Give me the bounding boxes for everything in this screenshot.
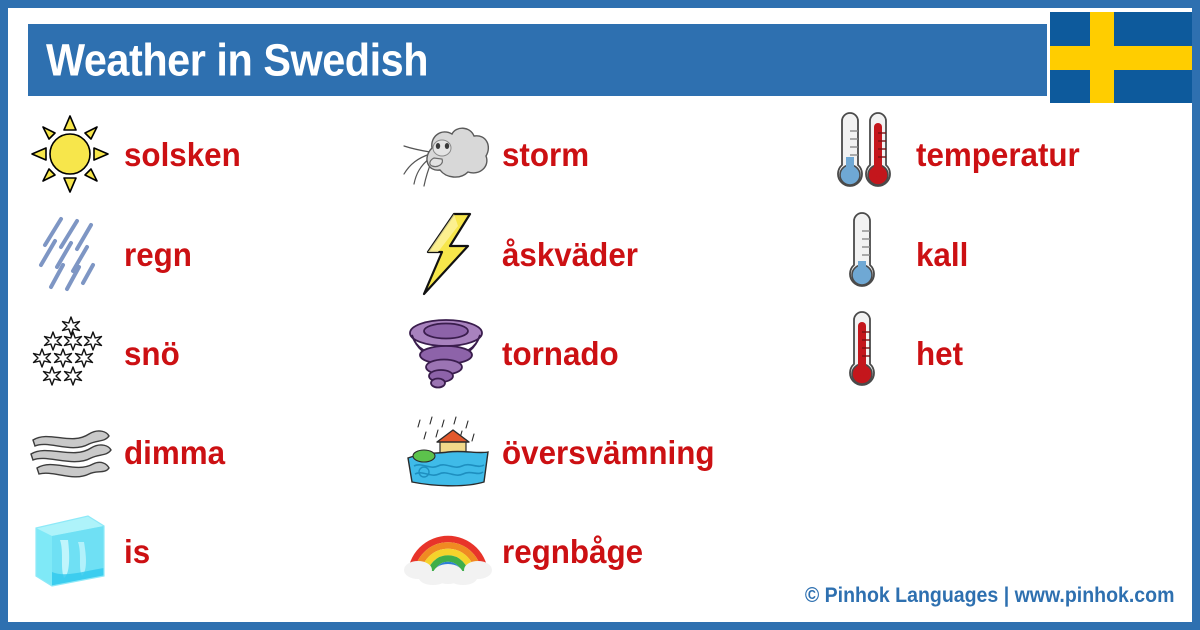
ice-cube-icon: [22, 508, 118, 594]
vocabulary-word: snö: [124, 337, 183, 370]
sun-icon: [22, 111, 118, 197]
vocabulary-word: het: [916, 337, 966, 370]
snowflakes-icon: [22, 310, 118, 396]
vocabulary-entry: temperatur: [814, 104, 1192, 204]
vocabulary-word: kall: [916, 238, 971, 271]
vocabulary-column-3: temperatur k: [814, 104, 1192, 574]
vocabulary-word: regn: [124, 238, 196, 271]
two-thermometers-icon: [814, 111, 910, 197]
fog-icon: [22, 409, 118, 495]
flag-cross-horizontal: [1050, 46, 1192, 70]
footer-credit[interactable]: © Pinhok Languages | www.pinhok.com: [777, 584, 1174, 608]
vocabulary-word: storm: [502, 138, 594, 171]
vocabulary-entry: tornado: [400, 303, 790, 403]
vocabulary-word: solsken: [124, 138, 247, 171]
vocabulary-entry: regn: [22, 204, 412, 304]
vocabulary-column-1: solsken: [22, 104, 412, 574]
storm-cloud-icon: [400, 111, 496, 197]
tornado-icon: [400, 310, 496, 396]
vocabulary-entry: solsken: [22, 104, 412, 204]
vocabulary-entry: het: [814, 303, 1192, 403]
swedish-flag: [1050, 12, 1192, 103]
vocabulary-entry: dimma: [22, 402, 412, 502]
vocabulary-word: regnbåge: [502, 535, 651, 568]
vocabulary-entry: kall: [814, 204, 1192, 304]
page-title-text: Weather in Swedish: [46, 38, 428, 83]
vocabulary-grid: solsken: [8, 104, 1192, 574]
vocabulary-entry: storm: [400, 104, 790, 204]
vocabulary-word: is: [124, 535, 152, 568]
header-bar: Weather in Swedish: [28, 24, 1047, 96]
vocabulary-word: åskväder: [502, 238, 645, 271]
vocabulary-icon-entry: regnbåge: [400, 501, 790, 601]
rain-icon: [22, 211, 118, 297]
lightning-bolt-icon: [400, 211, 496, 297]
cold-thermometer-icon: [814, 211, 910, 297]
vocabulary-entry: snö: [22, 303, 412, 403]
flood-icon: [400, 409, 496, 495]
vocabulary-word: översvämning: [502, 436, 726, 469]
rainbow-icon: [400, 508, 496, 594]
vocabulary-column-2: storm åskväder: [400, 104, 790, 574]
vocabulary-word: temperatur: [916, 138, 1088, 171]
hot-thermometer-icon: [814, 310, 910, 396]
vocabulary-word: dimma: [124, 436, 230, 469]
page-title: Weather in Swedish: [46, 38, 461, 83]
card-frame: Weather in Swedish: [8, 8, 1192, 622]
vocabulary-entry: åskväder: [400, 204, 790, 304]
vocabulary-word: tornado: [502, 337, 625, 370]
vocabulary-entry: översvämning: [400, 402, 790, 502]
vocabulary-entry: is: [22, 501, 412, 601]
footer-credit-text: © Pinhok Languages | www.pinhok.com: [804, 584, 1174, 608]
